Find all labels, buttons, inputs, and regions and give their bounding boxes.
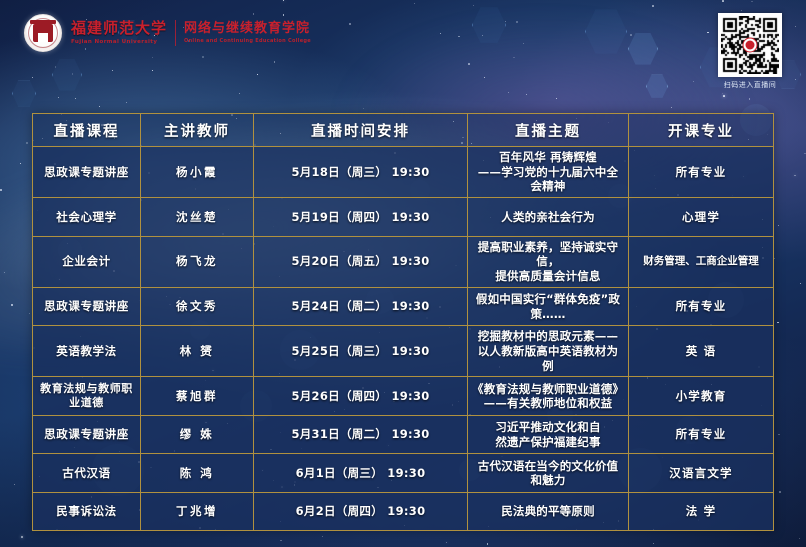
- college-name-en: Online and Continuing Education College: [184, 38, 311, 44]
- cell-course: 思政课专题讲座: [33, 415, 141, 454]
- cell-course: 古代汉语: [33, 454, 141, 493]
- cell-major: 所有专业: [629, 415, 774, 454]
- cell-course: 教育法规与教师职业道德: [33, 377, 141, 416]
- cell-time: 5月25日（周三） 19:30: [254, 326, 468, 377]
- university-name-cn: 福建师范大学: [71, 21, 167, 37]
- table-row: 思政课专题讲座缪 姝5月31日（周二） 19:30习近平推动文化和自然遗产保护福…: [33, 415, 774, 454]
- column-header-topic: 直播主题: [468, 114, 629, 147]
- cell-topic: 人类的亲社会行为: [468, 198, 629, 237]
- cell-topic: 古代汉语在当今的文化价值和魅力: [468, 454, 629, 493]
- university-name-en: Fujian Normal University: [71, 39, 167, 45]
- topic-line-2: 然遗产保护福建纪事: [472, 435, 624, 450]
- table-header-row: 直播课程 主讲教师 直播时间安排 直播主题 开课专业: [33, 114, 774, 147]
- topic-line-1: 人类的亲社会行为: [472, 210, 624, 225]
- column-header-course: 直播课程: [33, 114, 141, 147]
- cell-topic: 百年风华 再铸辉煌——学习党的十九届六中全会精神: [468, 147, 629, 198]
- cell-time: 5月24日（周二） 19:30: [254, 287, 468, 326]
- cell-course: 企业会计: [33, 236, 141, 287]
- cell-topic: 假如中国实行“群体免疫”政策……: [468, 287, 629, 326]
- cell-major: 小学教育: [629, 377, 774, 416]
- cell-major: 英 语: [629, 326, 774, 377]
- table-row: 古代汉语陈 鸿6月1日（周三） 19:30古代汉语在当今的文化价值和魅力汉语言文…: [33, 454, 774, 493]
- live-schedule-table: 直播课程 主讲教师 直播时间安排 直播主题 开课专业 思政课专题讲座杨小霞5月1…: [32, 113, 774, 531]
- topic-line-2: 以人教新版高中英语教材为例: [472, 344, 624, 373]
- table-row: 教育法规与教师职业道德蔡旭群5月26日（周四） 19:30《教育法规与教师职业道…: [33, 377, 774, 416]
- topic-line-1: 民法典的平等原则: [472, 504, 624, 519]
- table-row: 思政课专题讲座徐文秀5月24日（周二） 19:30假如中国实行“群体免疫”政策……: [33, 287, 774, 326]
- cell-major: 所有专业: [629, 147, 774, 198]
- table-row: 社会心理学沈丝楚5月19日（周四） 19:30人类的亲社会行为心理学: [33, 198, 774, 237]
- qr-center-logo-icon: [743, 38, 758, 53]
- cell-teacher: 沈丝楚: [141, 198, 254, 237]
- column-header-time: 直播时间安排: [254, 114, 468, 147]
- cell-topic: 挖掘教材中的思政元素——以人教新版高中英语教材为例: [468, 326, 629, 377]
- cell-teacher: 杨飞龙: [141, 236, 254, 287]
- topic-line-1: 假如中国实行“群体免疫”政策……: [472, 292, 624, 321]
- university-brand: 福建师范大学 Fujian Normal University 网络与继续教育学…: [24, 14, 311, 52]
- column-header-teacher: 主讲教师: [141, 114, 254, 147]
- cell-teacher: 陈 鸿: [141, 454, 254, 493]
- topic-line-1: 古代汉语在当今的文化价值和魅力: [472, 459, 624, 488]
- page-header: 福建师范大学 Fujian Normal University 网络与继续教育学…: [0, 0, 806, 106]
- cell-topic: 提高职业素养，坚持诚实守信，提供高质量会计信息: [468, 236, 629, 287]
- cell-teacher: 徐文秀: [141, 287, 254, 326]
- cell-time: 5月19日（周四） 19:30: [254, 198, 468, 237]
- cell-time: 6月2日（周四） 19:30: [254, 492, 468, 531]
- cell-topic: 习近平推动文化和自然遗产保护福建纪事: [468, 415, 629, 454]
- cell-time: 5月31日（周二） 19:30: [254, 415, 468, 454]
- cell-time: 5月26日（周四） 19:30: [254, 377, 468, 416]
- column-header-major: 开课专业: [629, 114, 774, 147]
- topic-line-2: ——有关教师地位和权益: [472, 396, 624, 411]
- topic-line-1: 《教育法规与教师职业道德》: [472, 382, 624, 397]
- cell-major: 汉语言文学: [629, 454, 774, 493]
- table-body: 思政课专题讲座杨小霞5月18日（周三） 19:30百年风华 再铸辉煌——学习党的…: [33, 147, 774, 531]
- cell-teacher: 杨小霞: [141, 147, 254, 198]
- table-row: 企业会计杨飞龙5月20日（周五） 19:30提高职业素养，坚持诚实守信，提供高质…: [33, 236, 774, 287]
- topic-line-1: 习近平推动文化和自: [472, 420, 624, 435]
- university-name-block: 福建师范大学 Fujian Normal University: [71, 21, 167, 45]
- cell-time: 6月1日（周三） 19:30: [254, 454, 468, 493]
- cell-topic: 《教育法规与教师职业道德》——有关教师地位和权益: [468, 377, 629, 416]
- topic-line-2: 提供高质量会计信息: [472, 269, 624, 284]
- brand-text: 福建师范大学 Fujian Normal University 网络与继续教育学…: [71, 20, 311, 46]
- college-name-block: 网络与继续教育学院 Online and Continuing Educatio…: [184, 22, 311, 44]
- topic-line-1: 提高职业素养，坚持诚实守信，: [472, 240, 624, 269]
- cell-major: 心理学: [629, 198, 774, 237]
- cell-major: 所有专业: [629, 287, 774, 326]
- college-name-cn: 网络与继续教育学院: [184, 22, 311, 36]
- qr-code-image[interactable]: [718, 13, 782, 77]
- table-row: 民事诉讼法丁兆增6月2日（周四） 19:30民法典的平等原则法 学: [33, 492, 774, 531]
- topic-line-2: ——学习党的十九届六中全会精神: [472, 165, 624, 194]
- cell-time: 5月20日（周五） 19:30: [254, 236, 468, 287]
- cell-topic: 民法典的平等原则: [468, 492, 629, 531]
- cell-course: 社会心理学: [33, 198, 141, 237]
- topic-line-1: 百年风华 再铸辉煌: [472, 150, 624, 165]
- cell-teacher: 林 赟: [141, 326, 254, 377]
- cell-teacher: 缪 姝: [141, 415, 254, 454]
- qr-code-block: 扫码进入直播间: [718, 13, 782, 90]
- table-row: 英语教学法林 赟5月25日（周三） 19:30挖掘教材中的思政元素——以人教新版…: [33, 326, 774, 377]
- cell-course: 思政课专题讲座: [33, 287, 141, 326]
- qr-caption: 扫码进入直播间: [718, 80, 782, 90]
- cell-course: 民事诉讼法: [33, 492, 141, 531]
- table-row: 思政课专题讲座杨小霞5月18日（周三） 19:30百年风华 再铸辉煌——学习党的…: [33, 147, 774, 198]
- cell-time: 5月18日（周三） 19:30: [254, 147, 468, 198]
- university-crest-icon: [24, 14, 62, 52]
- brand-divider: [175, 20, 176, 46]
- cell-course: 英语教学法: [33, 326, 141, 377]
- cell-course: 思政课专题讲座: [33, 147, 141, 198]
- cell-teacher: 丁兆增: [141, 492, 254, 531]
- topic-line-1: 挖掘教材中的思政元素——: [472, 329, 624, 344]
- cell-teacher: 蔡旭群: [141, 377, 254, 416]
- cell-major: 财务管理、工商企业管理: [629, 236, 774, 287]
- cell-major: 法 学: [629, 492, 774, 531]
